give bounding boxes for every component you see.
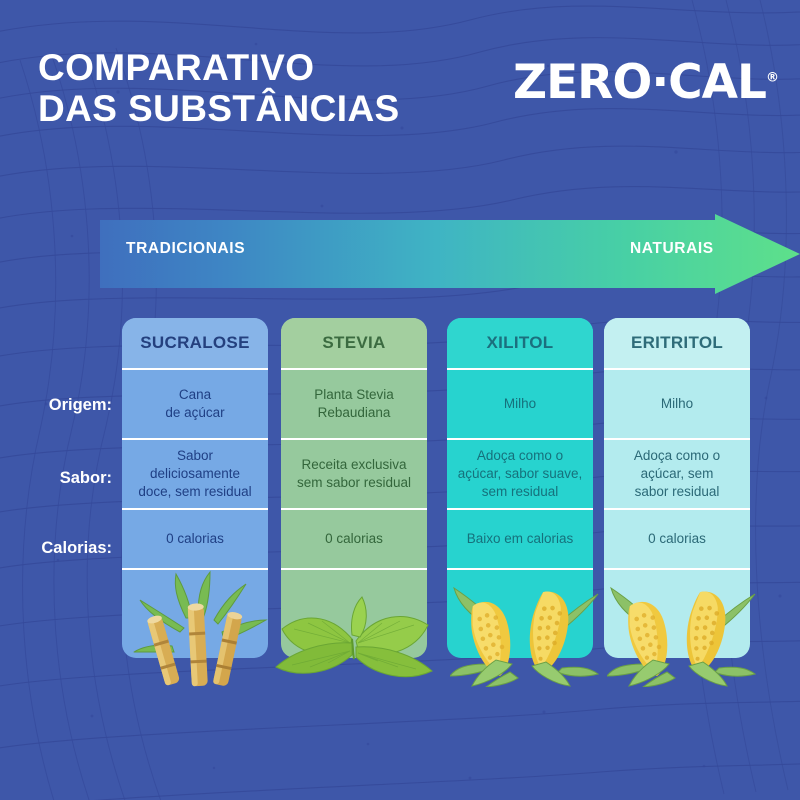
row-label-calorias: Calorias:	[12, 539, 112, 558]
column-header-stevia: STEVIA	[281, 318, 427, 370]
arrow-label-traditional: TRADICIONAIS	[126, 240, 245, 258]
registered-trademark-icon: ®	[766, 70, 779, 85]
cell-xilitol-sabor: Adoça como oaçúcar, sabor suave,sem resi…	[447, 440, 593, 510]
comparison-column-eritritol[interactable]: ERITRITOL Milho Adoça como oaçúcar, sems…	[604, 318, 750, 658]
cell-stevia-origem: Planta SteviaRebaudiana	[281, 370, 427, 440]
column-header-sucralose: SUCRALOSE	[122, 318, 268, 370]
cell-eritritol-calorias: 0 calorias	[604, 510, 750, 570]
column-art-xilitol	[447, 570, 593, 658]
cell-sucralose-origem: Canade açúcar	[122, 370, 268, 440]
cell-stevia-sabor: Receita exclusivasem sabor residual	[281, 440, 427, 510]
cell-eritritol-origem: Milho	[604, 370, 750, 440]
comparison-column-xilitol[interactable]: XILITOL Milho Adoça como oaçúcar, sabor …	[447, 318, 593, 658]
cell-sucralose-calorias: 0 calorias	[122, 510, 268, 570]
cell-sucralose-sabor: Sabordeliciosamentedoce, sem residual	[122, 440, 268, 510]
column-header-xilitol: XILITOL	[447, 318, 593, 370]
comparison-column-sucralose[interactable]: SUCRALOSE Canade açúcar Sabordeliciosame…	[122, 318, 268, 658]
brand-logo-text: ZERO·CAL	[513, 55, 766, 110]
title-line-1: COMPARATIVO	[38, 47, 314, 88]
column-header-eritritol: ERITRITOL	[604, 318, 750, 370]
row-label-sabor: Sabor:	[12, 469, 112, 488]
row-label-origem: Origem:	[12, 396, 112, 415]
column-art-eritritol	[604, 570, 750, 658]
column-art-stevia	[281, 570, 427, 658]
page-title: COMPARATIVO DAS SUBSTÂNCIAS	[38, 47, 400, 130]
cell-eritritol-sabor: Adoça como oaçúcar, semsabor residual	[604, 440, 750, 510]
brand-logo: ZERO·CAL®	[513, 55, 779, 110]
arrow-label-natural: NATURAIS	[630, 240, 714, 258]
cell-xilitol-calorias: Baixo em calorias	[447, 510, 593, 570]
cell-stevia-calorias: 0 calorias	[281, 510, 427, 570]
title-line-2: DAS SUBSTÂNCIAS	[38, 88, 400, 129]
cell-xilitol-origem: Milho	[447, 370, 593, 440]
infographic-canvas: COMPARATIVO DAS SUBSTÂNCIAS ZERO·CAL® TR…	[0, 0, 800, 800]
comparison-column-stevia[interactable]: STEVIA Planta SteviaRebaudiana Receita e…	[281, 318, 427, 658]
column-art-sucralose	[122, 570, 268, 658]
